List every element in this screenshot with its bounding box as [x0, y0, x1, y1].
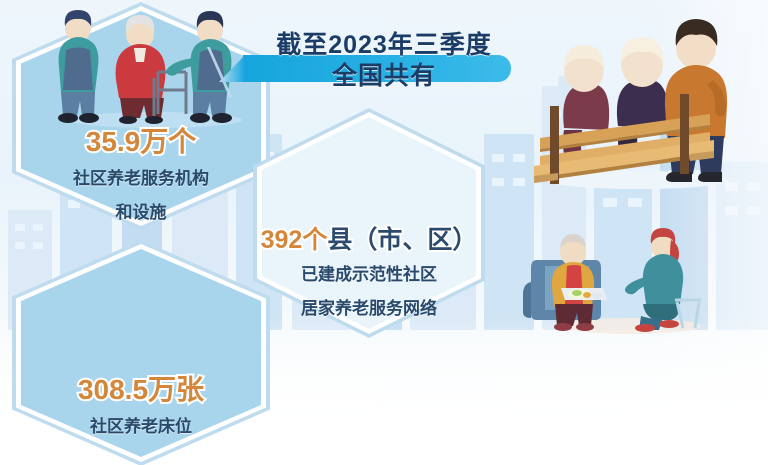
stat-number-counties: 392个 [261, 226, 328, 254]
stat-caption-institutions-line1: 社区养老服务机构 [12, 164, 270, 189]
stat-number-institutions: 35.9万个 [12, 120, 270, 160]
park-bench-scene [520, 8, 750, 193]
caregiver-left [58, 10, 99, 123]
stat-number-counties-unit: 县（市、区） [327, 226, 477, 254]
stat-number-beds: 308.5万张 [12, 368, 270, 408]
stat-hexagon-beds: 308.5万张 社区养老床位 [12, 240, 270, 465]
stat-number-counties-row: 392个县（市、区） [253, 220, 485, 256]
elder-in-armchair-with-meal-tray-illustration [519, 226, 725, 336]
title-banner [243, 55, 511, 82]
stat-hexagon-institutions: 35.9万个 社区养老服务机构 和设施 [12, 2, 270, 230]
stat-caption-beds-line1: 社区养老床位 [12, 412, 270, 437]
stat-hexagon-counties: 392个县（市、区） 已建成示范性社区 居家养老服务网络 [253, 108, 485, 338]
stat-caption-counties-line2: 居家养老服务网络 [253, 294, 485, 319]
visitor-woman [625, 228, 701, 332]
stat-caption-counties-line1: 已建成示范性社区 [253, 260, 485, 285]
meal-tray-icon [561, 288, 607, 300]
stat-caption-institutions-line2: 和设施 [12, 198, 270, 223]
infographic-canvas: 35.9万个 社区养老服务机构 和设施 [0, 0, 768, 465]
walker-icon [154, 72, 186, 116]
